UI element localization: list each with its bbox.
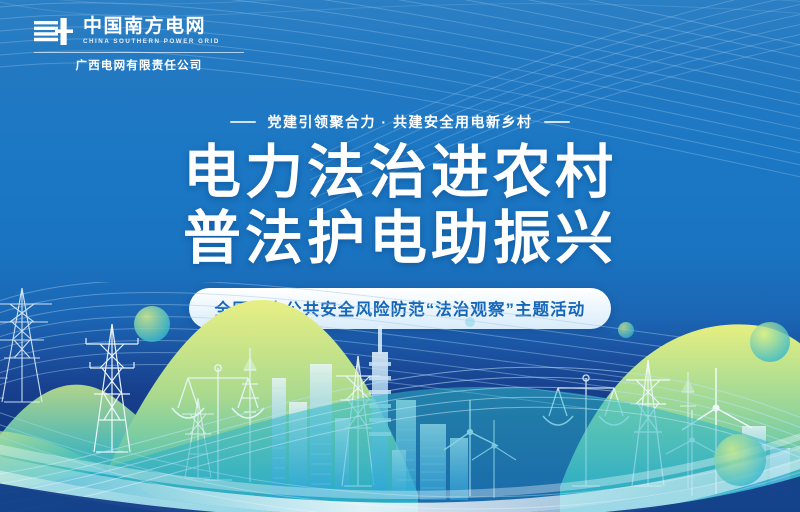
decorative-circle [618,322,634,338]
power-grid-logo-icon [34,18,74,45]
company-name-en: CHINA SOUTHERN POWER GRID [83,37,220,47]
eyebrow-text: 党建引领聚合力 · 共建安全用电新乡村 [268,112,533,132]
logo-names: 中国南方电网 CHINA SOUTHERN POWER GRID [83,16,220,47]
headline: 电力法治进农村 普法护电助振兴 [0,140,800,272]
eyebrow-slogan: 党建引领聚合力 · 共建安全用电新乡村 [0,112,800,132]
logo-row: 中国南方电网 CHINA SOUTHERN POWER GRID [34,16,244,47]
company-name-cn: 中国南方电网 [83,16,220,37]
logo-divider [34,52,244,53]
eyebrow-left-rule [230,121,256,123]
decorative-circle [714,434,766,486]
poster-canvas: 中国南方电网 CHINA SOUTHERN POWER GRID 广西电网有限责… [0,0,800,512]
decorative-circle [134,306,170,342]
bottom-scenery-illustration [0,282,800,512]
eyebrow-right-rule [544,121,570,123]
decorative-circle [750,322,790,362]
headline-line-2: 普法护电助振兴 [0,206,800,272]
headline-line-1: 电力法治进农村 [0,140,800,206]
brand-logo-block: 中国南方电网 CHINA SOUTHERN POWER GRID 广西电网有限责… [34,16,244,73]
decorative-circle [465,317,475,327]
subsidiary-name: 广西电网有限责任公司 [34,57,244,73]
